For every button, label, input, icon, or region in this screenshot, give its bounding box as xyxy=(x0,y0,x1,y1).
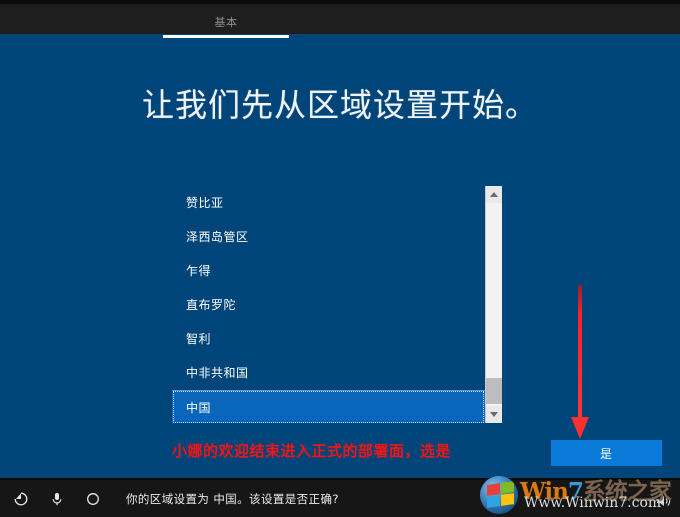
tab-basic[interactable]: 基本 xyxy=(163,8,289,38)
chevron-up-icon xyxy=(490,192,498,197)
list-item[interactable]: 泽西岛管区 xyxy=(172,220,485,254)
list-item-selected[interactable]: 中国 xyxy=(172,390,485,423)
chevron-down-icon xyxy=(490,412,498,417)
microphone-icon[interactable] xyxy=(42,484,72,514)
bottom-status-bar: 你的区域设置为 中国。该设置是否正确? xyxy=(0,478,680,517)
list-item[interactable]: 赞比亚 xyxy=(172,186,485,220)
circle-icon[interactable] xyxy=(78,484,108,514)
assistant-prompt-text: 你的区域设置为 中国。该设置是否正确? xyxy=(126,491,339,507)
arrow-shaft xyxy=(578,285,582,420)
scroll-down-button[interactable] xyxy=(486,406,502,423)
list-item[interactable]: 乍得 xyxy=(172,254,485,288)
arrow-head xyxy=(571,417,589,439)
region-listbox[interactable]: 赞比亚 泽西岛管区 乍得 直布罗陀 智利 中非共和国 中国 xyxy=(172,186,502,423)
confirm-yes-button[interactable]: 是 xyxy=(551,440,662,466)
down-arrow-icon xyxy=(571,285,589,440)
list-item[interactable]: 直布罗陀 xyxy=(172,288,485,322)
list-item[interactable]: 中非共和国 xyxy=(172,356,485,390)
list-item[interactable]: 智利 xyxy=(172,322,485,356)
scroll-up-button[interactable] xyxy=(486,186,502,203)
replay-icon[interactable] xyxy=(6,484,36,514)
setup-screen: 基本 让我们先从区域设置开始。 赞比亚 泽西岛管区 乍得 直布罗陀 智利 中非共… xyxy=(0,0,680,517)
page-title: 让我们先从区域设置开始。 xyxy=(0,80,680,126)
region-list-scrollbar[interactable] xyxy=(485,186,502,423)
region-list-items[interactable]: 赞比亚 泽西岛管区 乍得 直布罗陀 智利 中非共和国 中国 xyxy=(172,186,485,423)
annotation-text: 小娜的欢迎结束进入正式的部署面，选是 xyxy=(172,440,512,461)
scrollbar-thumb[interactable] xyxy=(486,378,502,404)
scrollbar-track[interactable] xyxy=(486,203,502,406)
tab-basic-label: 基本 xyxy=(215,14,238,30)
top-tab-bar: 基本 xyxy=(0,0,680,34)
speaker-icon[interactable] xyxy=(654,493,672,509)
